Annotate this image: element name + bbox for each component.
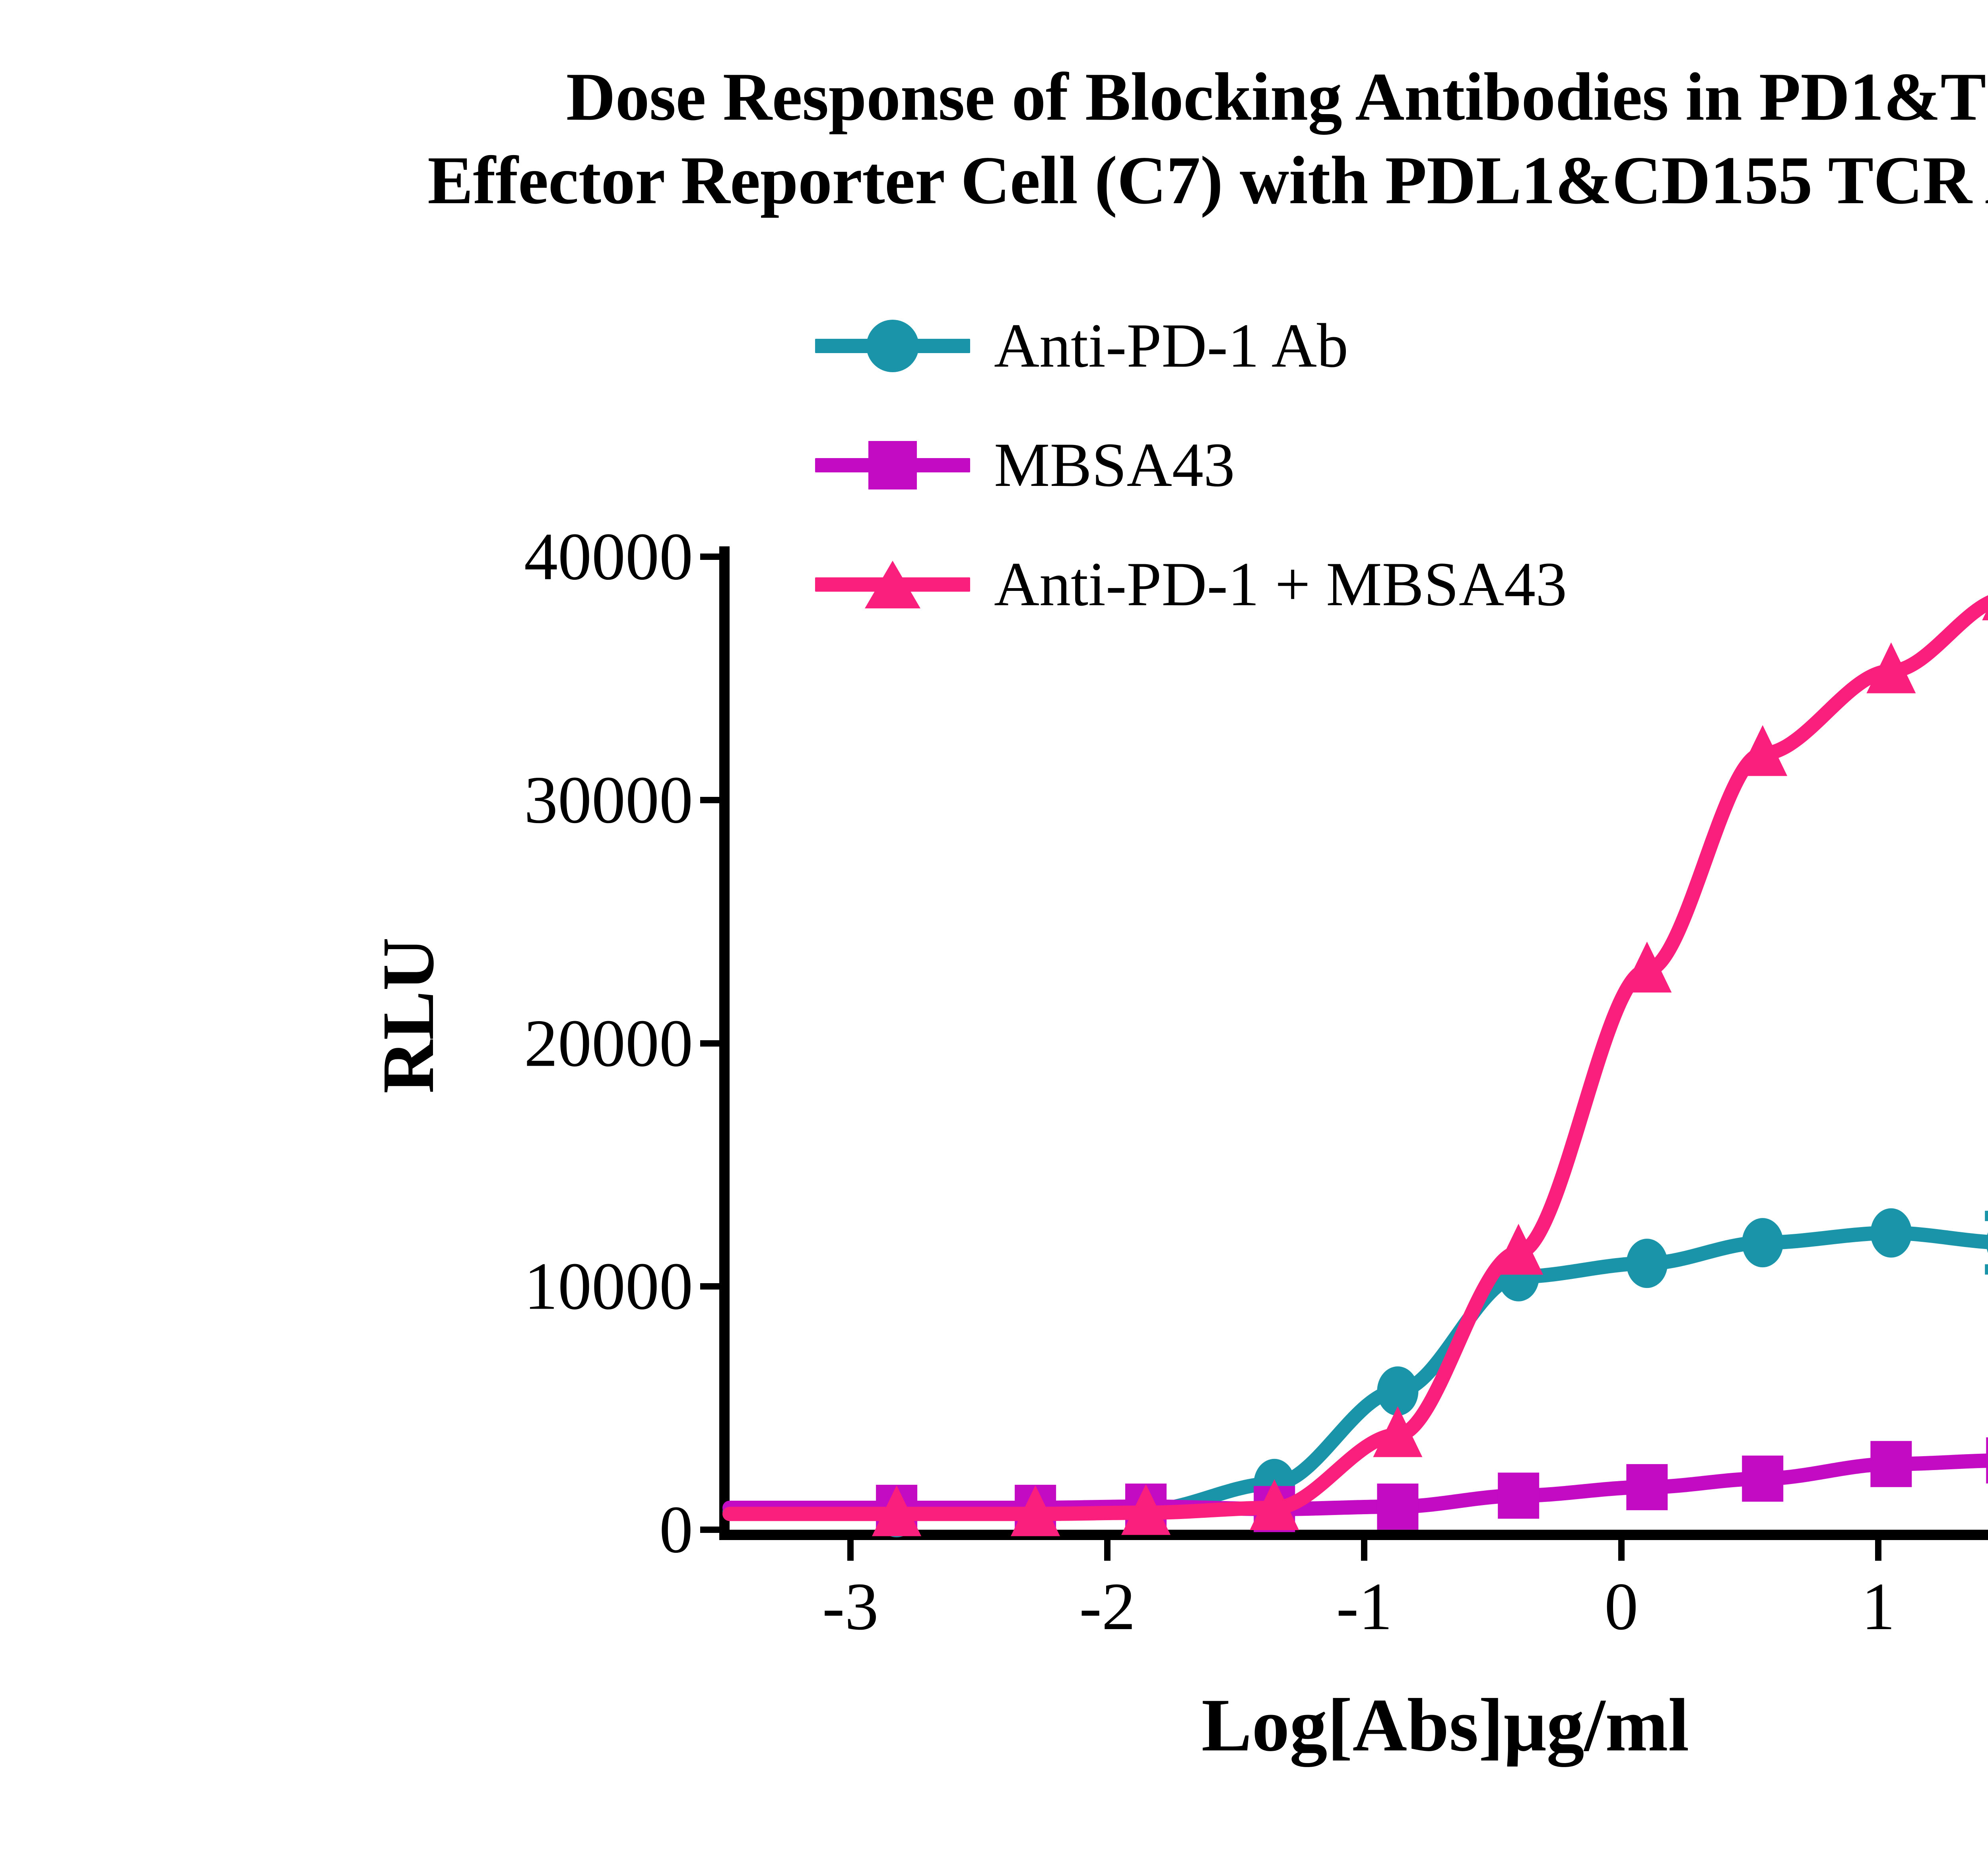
series-1	[730, 1208, 1988, 1538]
legend-key-anti-pd1	[815, 322, 970, 370]
y-axis-title: RLU	[366, 937, 451, 1094]
legend-item-anti-pd1[interactable]: Anti-PD-1 Ab	[815, 286, 1988, 406]
circle-marker-icon	[1986, 1218, 1988, 1267]
x-tick-label: -2	[1079, 1568, 1136, 1645]
series-layer	[730, 557, 1988, 1530]
x-tick	[1104, 1530, 1110, 1561]
square-marker-icon	[868, 441, 917, 489]
x-tick	[1875, 1530, 1881, 1561]
square-marker-icon	[1498, 1472, 1539, 1519]
plot-area: 010000200003000040000 -3-2-1012	[730, 557, 1988, 1530]
legend-key-mbsa43	[815, 441, 970, 489]
x-tick-label: -3	[822, 1568, 879, 1645]
y-tick	[700, 797, 730, 803]
page-title: Dose Response of Blocking Antibodies in …	[0, 56, 1988, 223]
y-axis-line	[719, 546, 730, 1530]
series-3	[730, 545, 1988, 1536]
legend-label-mbsa43: MBSA43	[970, 434, 1235, 497]
y-tick-label: 30000	[524, 761, 693, 839]
circle-marker-icon	[1626, 1239, 1668, 1288]
y-tick	[700, 1040, 730, 1047]
x-tick-label: 1	[1862, 1568, 1895, 1645]
circle-marker-icon	[1742, 1218, 1783, 1267]
title-line-1: Dose Response of Blocking Antibodies in …	[0, 56, 1988, 139]
x-tick	[847, 1530, 854, 1561]
y-tick-label: 10000	[524, 1248, 693, 1325]
x-tick-label: -1	[1336, 1568, 1393, 1645]
square-marker-icon	[1986, 1437, 1988, 1484]
x-tick	[1361, 1530, 1367, 1561]
series-curve	[730, 574, 1988, 1514]
y-tick	[700, 554, 730, 560]
y-tick	[700, 1527, 730, 1533]
title-line-2: Effector Reporter Cell (C7) with PDL1&CD…	[0, 139, 1988, 223]
y-tick-label: 20000	[524, 1004, 693, 1082]
y-tick-label: 40000	[524, 518, 693, 596]
x-axis-title: Log[Abs]μg/ml	[730, 1682, 1988, 1769]
y-tick	[700, 1283, 730, 1290]
square-marker-icon	[1377, 1484, 1418, 1530]
chart-figure: Dose Response of Blocking Antibodies in …	[0, 0, 1988, 1853]
circle-marker-icon	[1870, 1208, 1912, 1258]
square-marker-icon	[1626, 1464, 1668, 1510]
legend-label-anti-pd1: Anti-PD-1 Ab	[970, 315, 1348, 377]
y-tick-label: 0	[659, 1491, 693, 1569]
x-tick	[1618, 1530, 1625, 1561]
square-marker-icon	[1742, 1456, 1783, 1502]
x-tick-label: 0	[1604, 1568, 1638, 1645]
circle-marker-icon	[866, 320, 919, 372]
legend-item-mbsa43[interactable]: MBSA43	[815, 406, 1988, 525]
square-marker-icon	[1870, 1441, 1912, 1487]
